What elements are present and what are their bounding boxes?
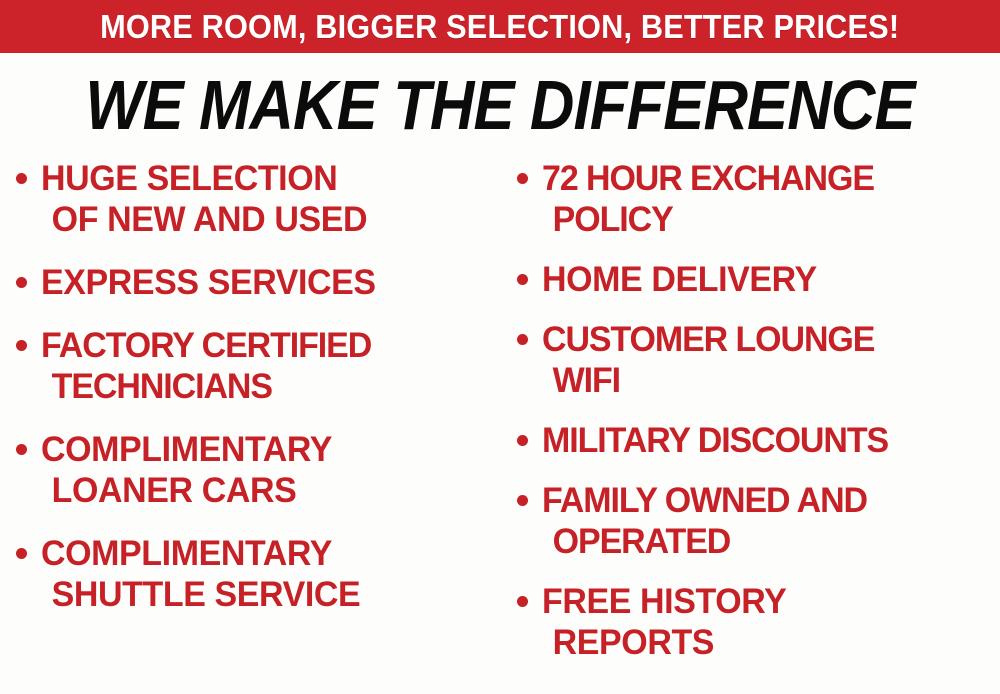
list-item: 72 HOUR EXCHANGE POLICY	[517, 158, 1000, 240]
list-item-text: COMPLIMENTARY SHUTTLE SERVICE	[41, 533, 360, 615]
list-item-line2: SHUTTLE SERVICE	[41, 574, 360, 615]
list-item-line1: EXPRESS SERVICES	[41, 263, 376, 302]
list-item-text: FACTORY CERTIFIED TECHNICIANS	[41, 325, 371, 407]
bullet-dot-icon	[517, 495, 528, 506]
list-item-text: EXPRESS SERVICES	[41, 262, 376, 303]
list-item-text: HUGE SELECTION OF NEW AND USED	[41, 158, 367, 240]
list-item-text: HOME DELIVERY	[542, 259, 817, 300]
bullet-dot-icon	[16, 277, 27, 288]
bullet-dot-icon	[517, 173, 528, 184]
promo-banner: MORE ROOM, BIGGER SELECTION, BETTER PRIC…	[0, 0, 1000, 53]
list-item-line1: COMPLIMENTARY	[41, 430, 332, 469]
list-item-line1: 72 HOUR EXCHANGE	[542, 159, 874, 198]
list-item-line2: LOANER CARS	[41, 470, 332, 511]
list-item: FACTORY CERTIFIED TECHNICIANS	[16, 325, 494, 407]
list-item-line2: OF NEW AND USED	[41, 199, 367, 240]
list-item-line1: COMPLIMENTARY	[41, 534, 332, 573]
list-item: HUGE SELECTION OF NEW AND USED	[16, 158, 494, 240]
list-item: COMPLIMENTARY SHUTTLE SERVICE	[16, 533, 494, 615]
list-item: MILITARY DISCOUNTS	[517, 420, 1000, 461]
list-item-text: 72 HOUR EXCHANGE POLICY	[542, 158, 874, 240]
promo-banner-text: MORE ROOM, BIGGER SELECTION, BETTER PRIC…	[100, 10, 899, 43]
list-item-line1: HOME DELIVERY	[542, 260, 817, 299]
page-title: WE MAKE THE DIFFERENCE	[60, 69, 940, 141]
list-item: EXPRESS SERVICES	[16, 262, 494, 303]
list-item-text: COMPLIMENTARY LOANER CARS	[41, 429, 332, 511]
list-item-line2: REPORTS	[542, 622, 786, 663]
features-columns: HUGE SELECTION OF NEW AND USED EXPRESS S…	[0, 158, 1000, 678]
list-item-text: MILITARY DISCOUNTS	[542, 420, 888, 461]
list-item-line2: OPERATED	[542, 521, 867, 562]
list-item: HOME DELIVERY	[517, 259, 1000, 300]
list-item-line2: WIFI	[542, 360, 874, 401]
list-item: FREE HISTORY REPORTS	[517, 581, 1000, 663]
list-item-text: CUSTOMER LOUNGE WIFI	[542, 319, 874, 401]
list-item-line2: POLICY	[542, 199, 874, 240]
bullet-dot-icon	[517, 435, 528, 446]
list-item-text: FREE HISTORY REPORTS	[542, 581, 786, 663]
advertisement-banner: MORE ROOM, BIGGER SELECTION, BETTER PRIC…	[0, 0, 1000, 694]
bullet-dot-icon	[16, 173, 27, 184]
list-item: FAMILY OWNED AND OPERATED	[517, 480, 1000, 562]
list-item-line1: FREE HISTORY	[542, 582, 786, 621]
list-item-line2: TECHNICIANS	[41, 366, 371, 407]
list-item-line1: CUSTOMER LOUNGE	[542, 320, 874, 359]
list-item-line1: FAMILY OWNED AND	[542, 481, 867, 520]
list-item-line1: HUGE SELECTION	[41, 159, 337, 198]
bullet-dot-icon	[16, 340, 27, 351]
list-item: CUSTOMER LOUNGE WIFI	[517, 319, 1000, 401]
bullet-dot-icon	[16, 444, 27, 455]
features-column-right: 72 HOUR EXCHANGE POLICY HOME DELIVERY CU…	[517, 158, 1000, 682]
list-item: COMPLIMENTARY LOANER CARS	[16, 429, 494, 511]
bullet-dot-icon	[517, 596, 528, 607]
bullet-dot-icon	[16, 548, 27, 559]
list-item-line1: MILITARY DISCOUNTS	[542, 421, 888, 460]
bullet-dot-icon	[517, 334, 528, 345]
list-item-text: FAMILY OWNED AND OPERATED	[542, 480, 867, 562]
list-item-line1: FACTORY CERTIFIED	[41, 326, 371, 365]
features-column-left: HUGE SELECTION OF NEW AND USED EXPRESS S…	[16, 158, 494, 637]
bullet-dot-icon	[517, 274, 528, 285]
